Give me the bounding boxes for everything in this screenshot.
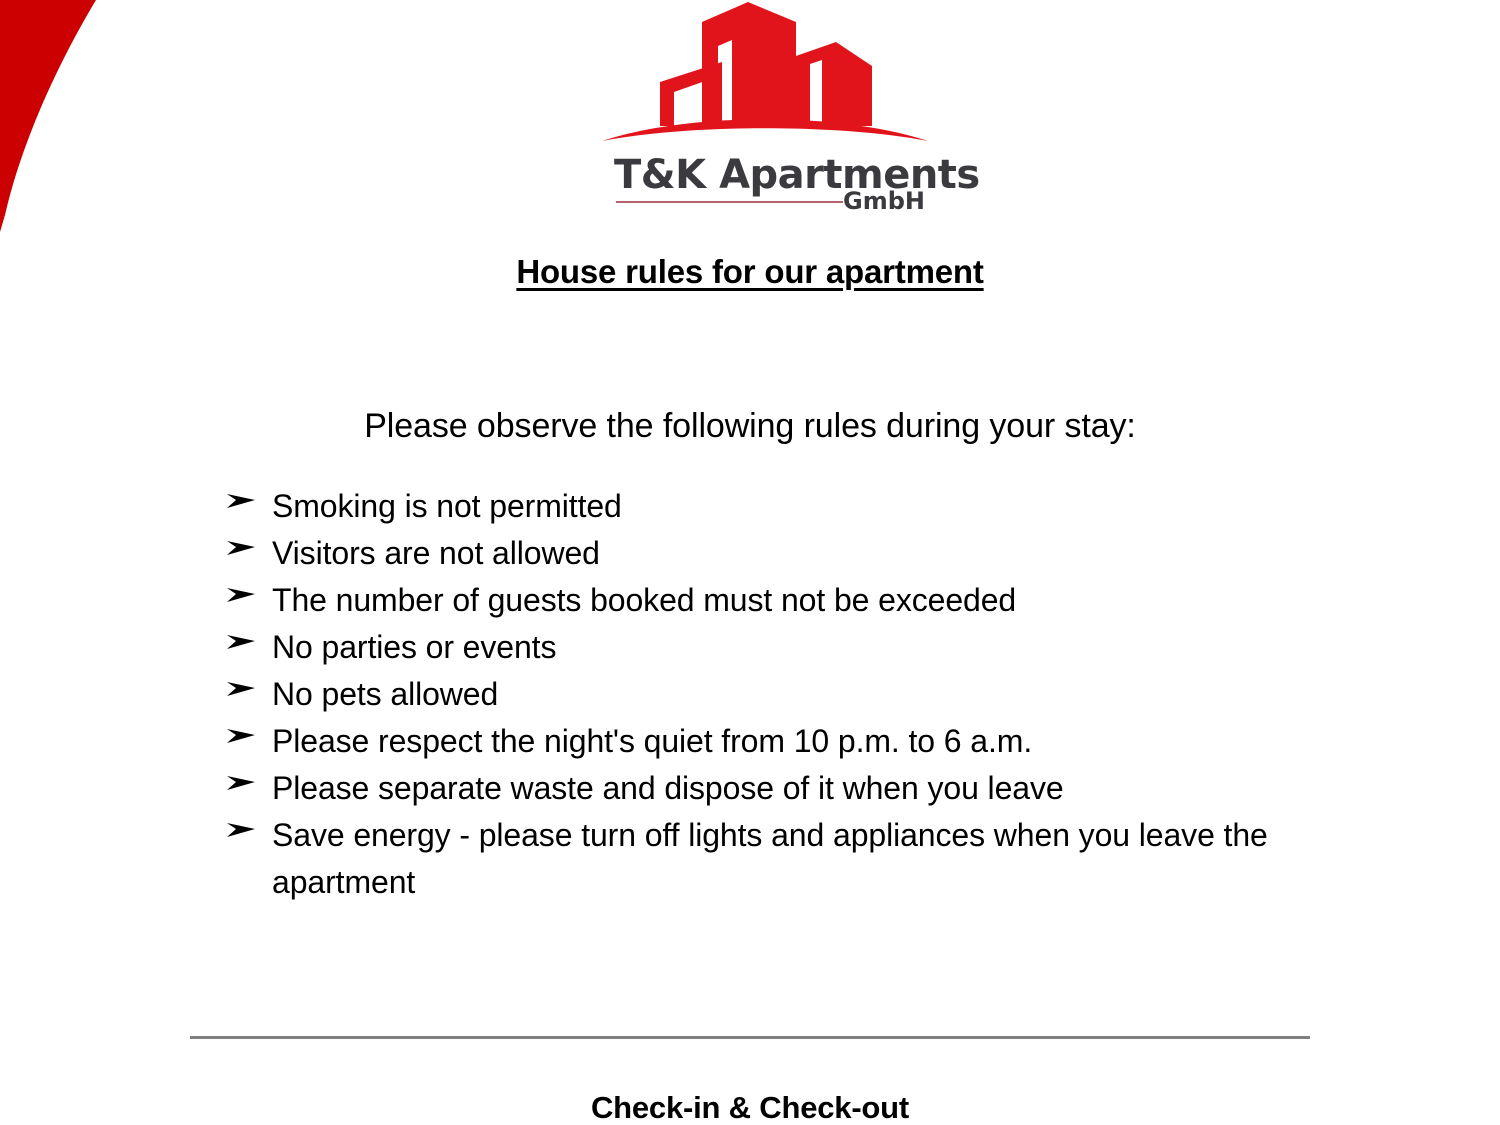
list-item-label: Visitors are not allowed — [272, 535, 600, 571]
arrowhead-bullet-icon — [224, 812, 258, 846]
list-item-label: The number of guests booked must not be … — [272, 582, 1016, 618]
footer-divider — [190, 1036, 1310, 1039]
list-item: No parties or events — [222, 624, 1372, 671]
footer-heading: Check-in & Check-out — [0, 1090, 1500, 1125]
list-item-label: No parties or events — [272, 629, 556, 665]
brand-suffix: GmbH — [843, 187, 925, 215]
arrowhead-bullet-icon — [224, 671, 258, 705]
list-item: Visitors are not allowed — [222, 530, 1372, 577]
list-item-label: Smoking is not permitted — [272, 488, 622, 524]
list-item-label: No pets allowed — [272, 676, 498, 712]
list-item-label: Save energy - please turn off lights and… — [272, 817, 1268, 900]
city-buildings-icon — [600, 0, 930, 148]
arrowhead-bullet-icon — [224, 624, 258, 658]
brand-underline — [616, 201, 843, 203]
list-item: Please separate waste and dispose of it … — [222, 765, 1372, 812]
arrowhead-bullet-icon — [224, 765, 258, 799]
list-item: No pets allowed — [222, 671, 1372, 718]
arrowhead-bullet-icon — [224, 577, 258, 611]
arrowhead-bullet-icon — [224, 718, 258, 752]
list-item: Save energy - please turn off lights and… — [222, 812, 1372, 906]
document-page: T&K Apartments GmbH House rules for our … — [0, 0, 1500, 1125]
list-item-label: Please respect the night's quiet from 10… — [272, 723, 1032, 759]
page-title: House rules for our apartment — [0, 253, 1500, 291]
arrowhead-bullet-icon — [224, 483, 258, 517]
intro-text: Please observe the following rules durin… — [0, 407, 1500, 446]
list-item-label: Please separate waste and dispose of it … — [272, 770, 1064, 806]
list-item: Please respect the night's quiet from 10… — [222, 718, 1372, 765]
list-item: The number of guests booked must not be … — [222, 577, 1372, 624]
list-item: Smoking is not permitted — [222, 483, 1372, 530]
red-corner-wedge-icon — [0, 0, 130, 240]
brand-logo: T&K Apartments GmbH — [590, 0, 940, 216]
rules-list: Smoking is not permitted Visitors are no… — [222, 483, 1372, 906]
arrowhead-bullet-icon — [224, 530, 258, 564]
